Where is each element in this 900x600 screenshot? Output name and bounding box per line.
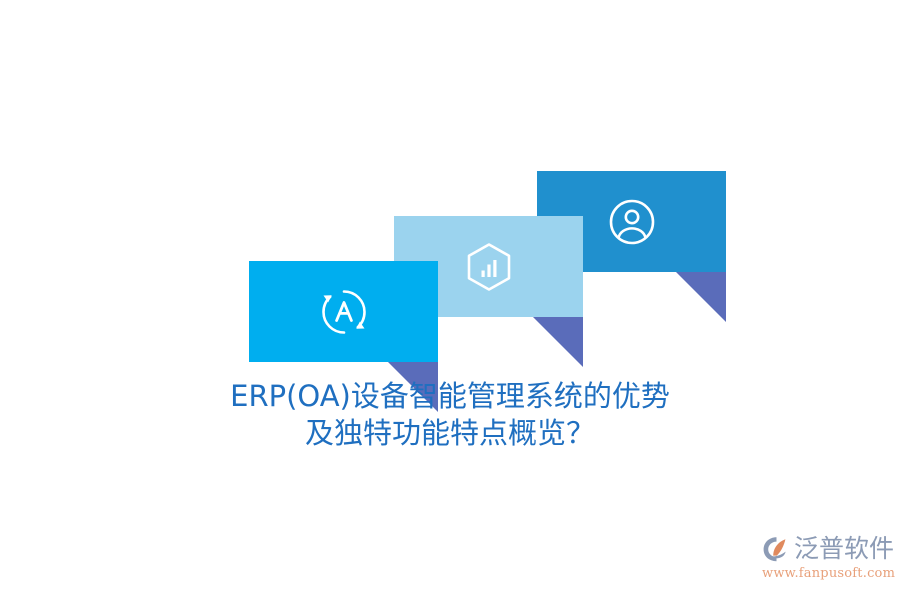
banner-canvas: ERP(OA)设备智能管理系统的优势 及独特功能特点概览？ 泛普软件 www.f… — [0, 0, 900, 600]
brand-name: 泛普软件 — [794, 535, 894, 563]
brand-url: www.fanpusoft.com — [762, 566, 892, 582]
card-tail-user — [676, 272, 726, 322]
feature-card-auto — [249, 261, 438, 362]
brand-row: 泛普软件 — [762, 533, 892, 565]
page-title-line-2: 及独特功能特点概览？ — [0, 415, 900, 452]
brand-watermark: 泛普软件 www.fanpusoft.com — [762, 533, 892, 587]
page-title: ERP(OA)设备智能管理系统的优势 及独特功能特点概览？ — [0, 378, 900, 452]
fanpu-logo-icon — [762, 535, 792, 563]
auto-refresh-icon — [249, 261, 438, 362]
page-title-line-1: ERP(OA)设备智能管理系统的优势 — [0, 378, 900, 415]
card-body-auto — [249, 261, 438, 362]
card-tail-analytics — [533, 317, 583, 367]
